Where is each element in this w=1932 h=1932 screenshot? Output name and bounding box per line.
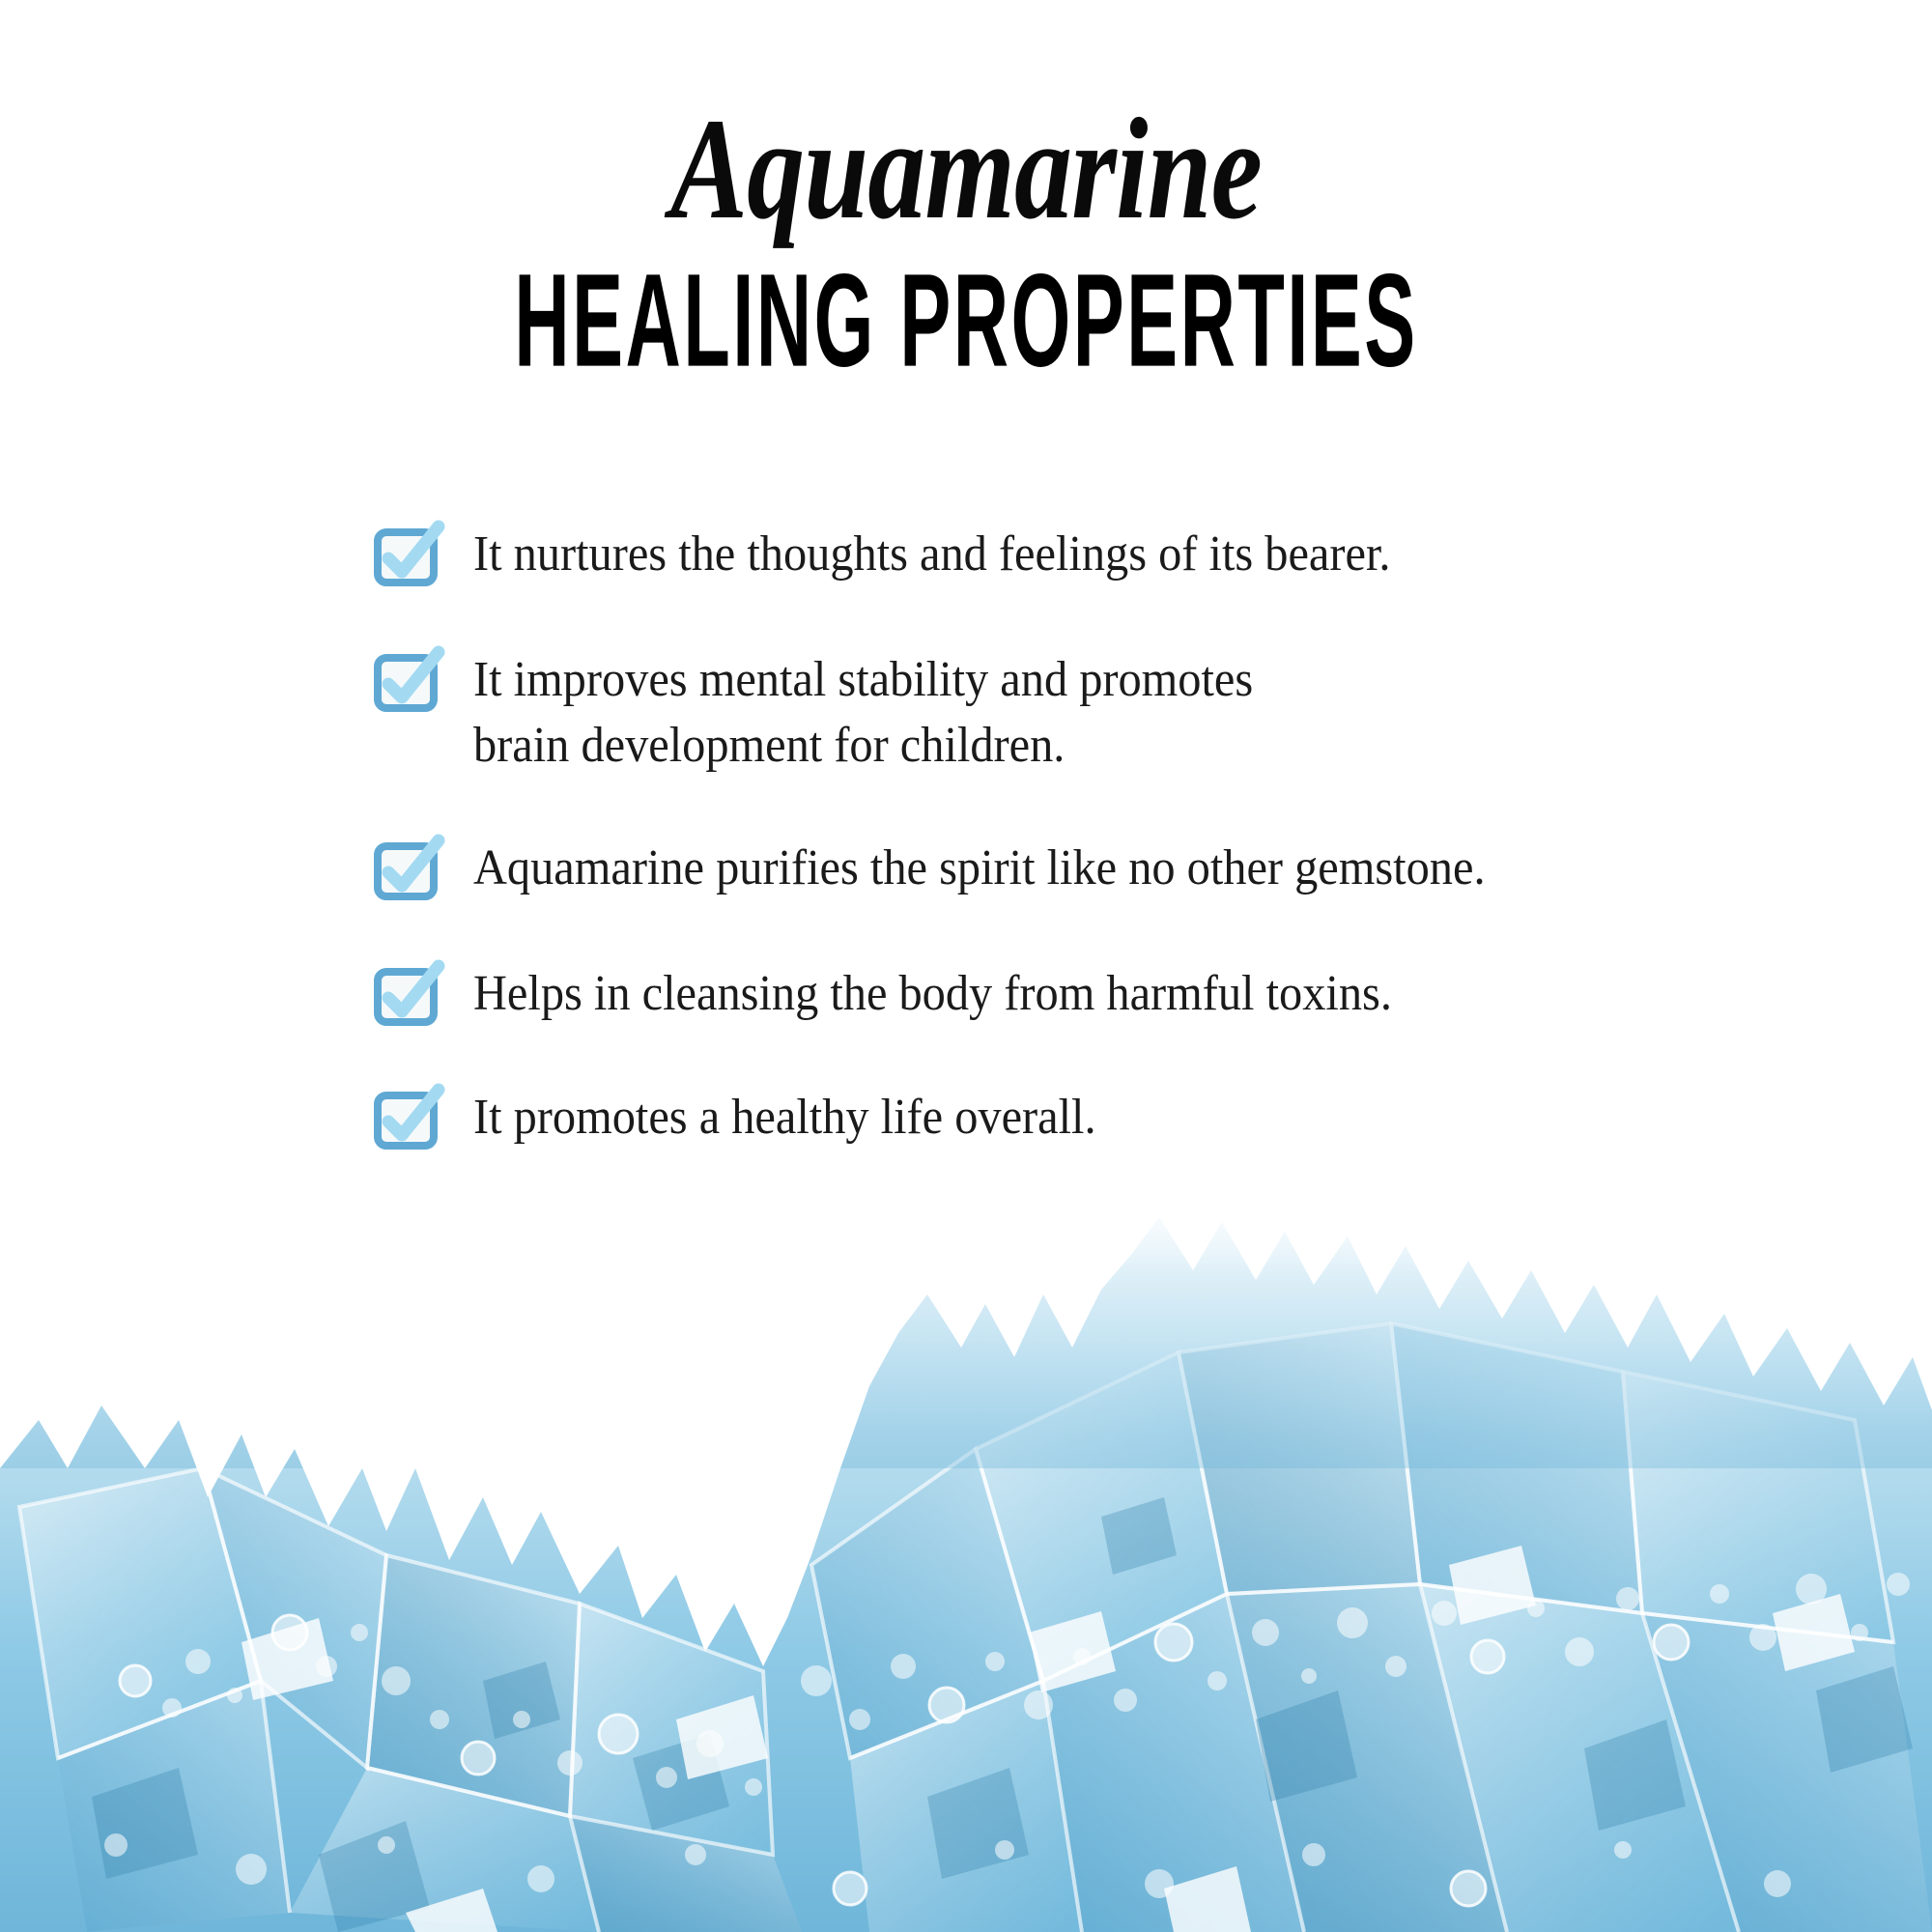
header: Aquamarine HEALING PROPERTIES xyxy=(0,0,1932,383)
checkbox-checked-icon xyxy=(375,1093,435,1152)
list-item: It improves mental stability and promote… xyxy=(375,647,1882,778)
poster-canvas: Aquamarine HEALING PROPERTIES It nurture… xyxy=(0,0,1932,1932)
page-subtitle: HEALING PROPERTIES xyxy=(367,237,1565,387)
list-item: Helps in cleansing the body from harmful… xyxy=(375,961,1882,1029)
list-item-text: Aquamarine purifies the spirit like no o… xyxy=(473,836,1486,901)
checkbox-checked-icon xyxy=(375,529,435,589)
list-item-text: It nurtures the thoughts and feelings of… xyxy=(473,522,1391,587)
checkbox-checked-icon xyxy=(375,843,435,903)
list-item: Aquamarine purifies the spirit like no o… xyxy=(375,836,1882,903)
list-item: It promotes a healthy life overall. xyxy=(375,1085,1882,1152)
list-item-text: Helps in cleansing the body from harmful… xyxy=(473,961,1392,1027)
list-item: It nurtures the thoughts and feelings of… xyxy=(375,522,1882,589)
list-item-text: It improves mental stability and promote… xyxy=(473,647,1253,778)
list-item-text: It promotes a healthy life overall. xyxy=(473,1085,1096,1151)
page-title: Aquamarine xyxy=(193,0,1739,241)
ice-cubes-photo xyxy=(0,1179,1932,1932)
healing-properties-list: It nurtures the thoughts and feelings of… xyxy=(375,522,1882,1152)
checkbox-checked-icon xyxy=(375,969,435,1029)
checkbox-checked-icon xyxy=(375,655,435,715)
